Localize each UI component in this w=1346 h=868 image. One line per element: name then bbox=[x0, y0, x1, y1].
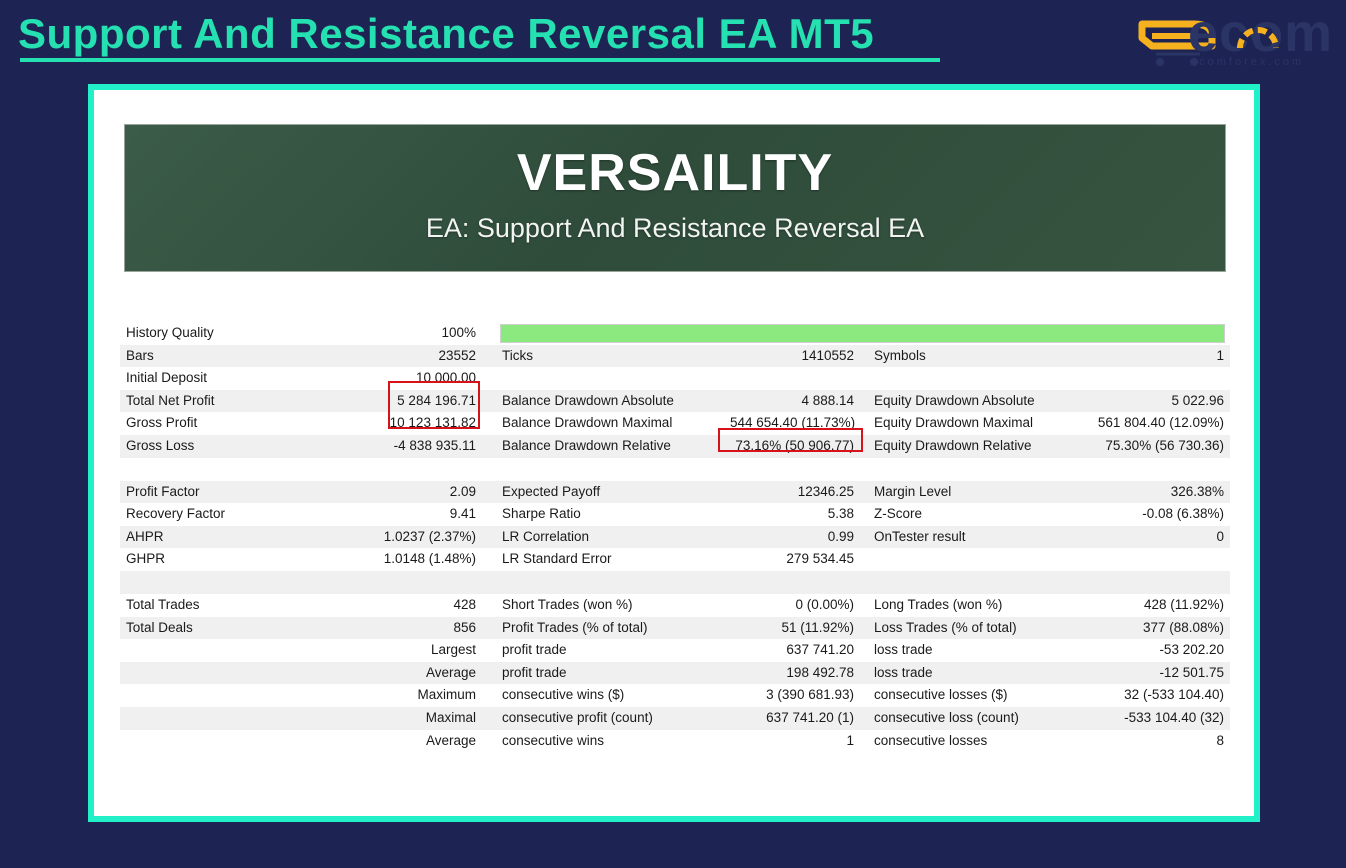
banner-subtitle: EA: Support And Resistance Reversal EA bbox=[125, 213, 1225, 244]
cell-label bbox=[120, 662, 370, 685]
cell-value: 9.41 bbox=[370, 503, 480, 526]
table-separator-row bbox=[120, 571, 1230, 594]
cell-label3: Equity Drawdown Relative bbox=[858, 435, 1078, 458]
backtest-statistics-table: History Quality100%Bars23552Ticks1410552… bbox=[120, 322, 1230, 752]
cell-label: Initial Deposit bbox=[120, 367, 370, 390]
cell-label3: consecutive losses ($) bbox=[858, 684, 1078, 707]
table-row: Initial Deposit10 000.00 bbox=[120, 367, 1230, 390]
cell-label2: Sharpe Ratio bbox=[480, 503, 730, 526]
cell-value2: 0.99 bbox=[730, 526, 858, 549]
cell-label: GHPR bbox=[120, 548, 370, 571]
cell-label2: Balance Drawdown Relative bbox=[480, 435, 730, 458]
cell-value2: 73.16% (50 906.77) bbox=[730, 435, 858, 458]
cell-value3: -53 202.20 bbox=[1078, 639, 1230, 662]
cell-label2: profit trade bbox=[480, 639, 730, 662]
cell-label: Profit Factor bbox=[120, 481, 370, 504]
cell-value2: 1 bbox=[730, 730, 858, 753]
cell-label3: Z-Score bbox=[858, 503, 1078, 526]
cell-value2: 51 (11.92%) bbox=[730, 617, 858, 640]
cell-value2: 0 (0.00%) bbox=[730, 594, 858, 617]
page-header: Support And Resistance Reversal EA MT5 e… bbox=[0, 0, 1346, 88]
cell-label2: consecutive wins bbox=[480, 730, 730, 753]
cell-value3: 377 (88.08%) bbox=[1078, 617, 1230, 640]
table-row: Largestprofit trade637 741.20loss trade-… bbox=[120, 639, 1230, 662]
cell-value3: 428 (11.92%) bbox=[1078, 594, 1230, 617]
cell-value: Average bbox=[370, 662, 480, 685]
cell-value: Maximal bbox=[370, 707, 480, 730]
cell-label2: consecutive profit (count) bbox=[480, 707, 730, 730]
cell-label: Total Trades bbox=[120, 594, 370, 617]
cell-value3: 0 bbox=[1078, 526, 1230, 549]
logo-domain: ecomforex.com bbox=[1190, 56, 1304, 68]
table-row: Gross Profit10 123 131.82Balance Drawdow… bbox=[120, 412, 1230, 435]
cell-value: 23552 bbox=[370, 345, 480, 368]
cell-value3: 561 804.40 (12.09%) bbox=[1078, 412, 1230, 435]
cell-value: 1.0237 (2.37%) bbox=[370, 526, 480, 549]
cell-value3: -0.08 (6.38%) bbox=[1078, 503, 1230, 526]
banner-title: VERSAILITY bbox=[125, 143, 1225, 203]
cell-label3: Loss Trades (% of total) bbox=[858, 617, 1078, 640]
cell-label2: Ticks bbox=[480, 345, 730, 368]
cell-value: Average bbox=[370, 730, 480, 753]
cell-value: 1.0148 (1.48%) bbox=[370, 548, 480, 571]
cell-label3: Margin Level bbox=[858, 481, 1078, 504]
cell-label2: Expected Payoff bbox=[480, 481, 730, 504]
cell-value2: 279 534.45 bbox=[730, 548, 858, 571]
speedometer-icon bbox=[1232, 16, 1284, 60]
cell-label: History Quality bbox=[120, 322, 370, 345]
cell-value2 bbox=[730, 367, 858, 390]
cell-value: Largest bbox=[370, 639, 480, 662]
table-row: AHPR1.0237 (2.37%)LR Correlation0.99OnTe… bbox=[120, 526, 1230, 549]
cell-label2: LR Standard Error bbox=[480, 548, 730, 571]
cell-label2: consecutive wins ($) bbox=[480, 684, 730, 707]
cell-value: 10 000.00 bbox=[370, 367, 480, 390]
cell-label3: consecutive losses bbox=[858, 730, 1078, 753]
cell-label2: Balance Drawdown Maximal bbox=[480, 412, 730, 435]
cell-value2: 1410552 bbox=[730, 345, 858, 368]
cell-label2: Balance Drawdown Absolute bbox=[480, 390, 730, 413]
table-row: Total Deals856Profit Trades (% of total)… bbox=[120, 617, 1230, 640]
table-row: Averageprofit trade198 492.78loss trade-… bbox=[120, 662, 1230, 685]
cell-value: 2.09 bbox=[370, 481, 480, 504]
table-row: Averageconsecutive wins1consecutive loss… bbox=[120, 730, 1230, 753]
cell-label: Recovery Factor bbox=[120, 503, 370, 526]
cell-label: Gross Profit bbox=[120, 412, 370, 435]
table-row: Maximalconsecutive profit (count)637 741… bbox=[120, 707, 1230, 730]
cell-label3: consecutive loss (count) bbox=[858, 707, 1078, 730]
cell-label bbox=[120, 730, 370, 753]
table-row: GHPR1.0148 (1.48%)LR Standard Error279 5… bbox=[120, 548, 1230, 571]
cell-label3: loss trade bbox=[858, 662, 1078, 685]
cell-value: 100% bbox=[370, 322, 480, 345]
cell-label2: Short Trades (won %) bbox=[480, 594, 730, 617]
table-row: Total Net Profit5 284 196.71Balance Draw… bbox=[120, 390, 1230, 413]
cell-label: Gross Loss bbox=[120, 435, 370, 458]
cell-value2: 12346.25 bbox=[730, 481, 858, 504]
cell-label3 bbox=[858, 367, 1078, 390]
cell-value2: 544 654.40 (11.73%) bbox=[730, 412, 858, 435]
table-row: Bars23552Ticks1410552Symbols1 bbox=[120, 345, 1230, 368]
cell-value3: 5 022.96 bbox=[1078, 390, 1230, 413]
table-row: History Quality100% bbox=[120, 322, 1230, 345]
cell-label2 bbox=[480, 367, 730, 390]
cell-value3: 1 bbox=[1078, 345, 1230, 368]
table-row: Profit Factor2.09Expected Payoff12346.25… bbox=[120, 481, 1230, 504]
cell-label bbox=[120, 684, 370, 707]
cell-label3: loss trade bbox=[858, 639, 1078, 662]
page-title: Support And Resistance Reversal EA MT5 bbox=[18, 10, 874, 58]
cell-value3: 326.38% bbox=[1078, 481, 1230, 504]
cell-label3: Equity Drawdown Maximal bbox=[858, 412, 1078, 435]
cell-label2: profit trade bbox=[480, 662, 730, 685]
cell-label2: Profit Trades (% of total) bbox=[480, 617, 730, 640]
cell-value3 bbox=[1078, 548, 1230, 571]
cell-label: Total Net Profit bbox=[120, 390, 370, 413]
cell-label: AHPR bbox=[120, 526, 370, 549]
table-separator-row bbox=[120, 458, 1230, 481]
brand-logo: ecom ecomforex.com bbox=[1132, 4, 1332, 76]
cell-label bbox=[120, 639, 370, 662]
cell-label3: Equity Drawdown Absolute bbox=[858, 390, 1078, 413]
cell-value3: 75.30% (56 730.36) bbox=[1078, 435, 1230, 458]
report-card: VERSAILITY EA: Support And Resistance Re… bbox=[88, 84, 1260, 822]
cell-value: 10 123 131.82 bbox=[370, 412, 480, 435]
cell-label3: OnTester result bbox=[858, 526, 1078, 549]
cell-value2: 5.38 bbox=[730, 503, 858, 526]
cell-value3: -533 104.40 (32) bbox=[1078, 707, 1230, 730]
ea-banner: VERSAILITY EA: Support And Resistance Re… bbox=[124, 124, 1226, 272]
history-quality-bar bbox=[500, 324, 1225, 343]
cell-label: Total Deals bbox=[120, 617, 370, 640]
table-row: Maximumconsecutive wins ($)3 (390 681.93… bbox=[120, 684, 1230, 707]
cell-value: 5 284 196.71 bbox=[370, 390, 480, 413]
cell-value2: 637 741.20 (1) bbox=[730, 707, 858, 730]
cell-label: Bars bbox=[120, 345, 370, 368]
table-row: Recovery Factor9.41Sharpe Ratio5.38Z-Sco… bbox=[120, 503, 1230, 526]
cell-value2: 198 492.78 bbox=[730, 662, 858, 685]
cell-value: -4 838 935.11 bbox=[370, 435, 480, 458]
table-row: Total Trades428Short Trades (won %)0 (0.… bbox=[120, 594, 1230, 617]
cell-value3 bbox=[1078, 367, 1230, 390]
cell-label bbox=[120, 707, 370, 730]
cell-value3: -12 501.75 bbox=[1078, 662, 1230, 685]
cell-value2: 3 (390 681.93) bbox=[730, 684, 858, 707]
cell-value3: 32 (-533 104.40) bbox=[1078, 684, 1230, 707]
cell-value2: 637 741.20 bbox=[730, 639, 858, 662]
cell-label3 bbox=[858, 548, 1078, 571]
cell-label3: Long Trades (won %) bbox=[858, 594, 1078, 617]
cell-label2: LR Correlation bbox=[480, 526, 730, 549]
cell-value: Maximum bbox=[370, 684, 480, 707]
cell-value2: 4 888.14 bbox=[730, 390, 858, 413]
title-underline bbox=[20, 58, 940, 62]
table-row: Gross Loss-4 838 935.11Balance Drawdown … bbox=[120, 435, 1230, 458]
cell-value: 428 bbox=[370, 594, 480, 617]
cell-label3: Symbols bbox=[858, 345, 1078, 368]
cell-value: 856 bbox=[370, 617, 480, 640]
cell-value3: 8 bbox=[1078, 730, 1230, 753]
